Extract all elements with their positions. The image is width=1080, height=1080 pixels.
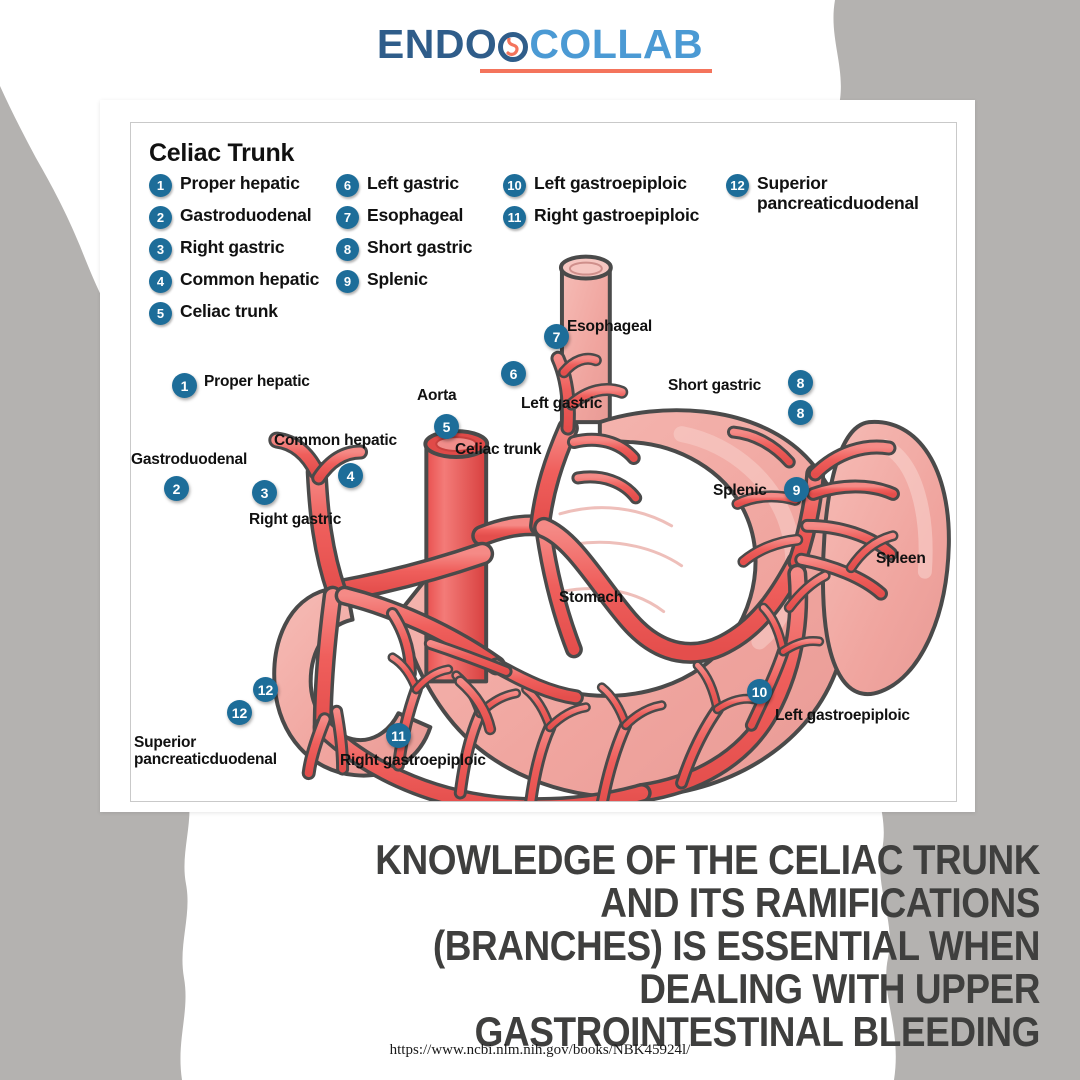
- diagram-badge-12a[interactable]: 12: [253, 677, 278, 702]
- diagram-badge-8b[interactable]: 8: [788, 400, 813, 425]
- legend-item[interactable]: 5 Celiac trunk: [149, 301, 319, 325]
- legend-label: Splenic: [367, 269, 428, 289]
- legend-item[interactable]: 6 Left gastric: [336, 173, 472, 197]
- brand-logo: ENDO COLLAB: [0, 22, 1080, 66]
- legend-badge: 6: [336, 174, 359, 197]
- legend-badge: 11: [503, 206, 526, 229]
- legend-label: Left gastric: [367, 173, 459, 193]
- diagram-badge-6[interactable]: 6: [501, 361, 526, 386]
- label-superior-pancreaticduodenal: Superior pancreaticduodenal: [134, 734, 277, 768]
- stomach-glyph: [505, 38, 521, 56]
- legend-badge: 3: [149, 238, 172, 261]
- legend-badge: 5: [149, 302, 172, 325]
- legend-label: Left gastroepiploic: [534, 173, 687, 193]
- headline-text: KNOWLEDGE OF THE CELIAC TRUNK AND ITS RA…: [371, 838, 1040, 1053]
- legend-badge: 12: [726, 174, 749, 197]
- diagram-badge-1[interactable]: 1: [172, 373, 197, 398]
- label-aorta: Aorta: [417, 387, 456, 404]
- label-right-gastric: Right gastric: [249, 511, 341, 528]
- legend-label: Superior pancreaticduodenal: [757, 173, 919, 213]
- legend-item[interactable]: 9 Splenic: [336, 269, 472, 293]
- label-left-gastric: Left gastric: [521, 395, 602, 412]
- legend-badge: 9: [336, 270, 359, 293]
- diagram-badge-2[interactable]: 2: [164, 476, 189, 501]
- label-celiac-trunk: Celiac trunk: [455, 441, 541, 458]
- legend-label: Common hepatic: [180, 269, 319, 289]
- legend-item[interactable]: 3 Right gastric: [149, 237, 319, 261]
- legend-badge: 8: [336, 238, 359, 261]
- label-short-gastric: Short gastric: [668, 377, 761, 394]
- diagram-badge-7[interactable]: 7: [544, 324, 569, 349]
- legend-label: Celiac trunk: [180, 301, 278, 321]
- label-right-gastroepiploic: Right gastroepiploic: [340, 752, 486, 769]
- diagram-badge-12b[interactable]: 12: [227, 700, 252, 725]
- diagram-badge-4[interactable]: 4: [338, 463, 363, 488]
- diagram-badge-8a[interactable]: 8: [788, 370, 813, 395]
- legend-column-1: 1 Proper hepatic 2 Gastroduodenal 3 Righ…: [149, 173, 319, 333]
- legend-badge: 7: [336, 206, 359, 229]
- diagram-badge-10[interactable]: 10: [747, 679, 772, 704]
- legend-item[interactable]: 1 Proper hepatic: [149, 173, 319, 197]
- legend-badge: 10: [503, 174, 526, 197]
- legend-label: Gastroduodenal: [180, 205, 311, 225]
- stomach-icon: [498, 32, 528, 62]
- legend-title: Celiac Trunk: [149, 139, 294, 168]
- label-left-gastroepiploic: Left gastroepiploic: [775, 707, 910, 724]
- legend-label: Right gastric: [180, 237, 284, 257]
- legend-badge: 2: [149, 206, 172, 229]
- legend-item[interactable]: 11 Right gastroepiploic: [503, 205, 699, 229]
- legend-column-3: 10 Left gastroepiploic 11 Right gastroep…: [503, 173, 699, 237]
- legend-column-2: 6 Left gastric 7 Esophageal 8 Short gast…: [336, 173, 472, 301]
- legend-badge: 4: [149, 270, 172, 293]
- legend-item[interactable]: 2 Gastroduodenal: [149, 205, 319, 229]
- legend-item[interactable]: 4 Common hepatic: [149, 269, 319, 293]
- logo-collab-text: COLLAB: [529, 21, 703, 67]
- legend-item[interactable]: 10 Left gastroepiploic: [503, 173, 699, 197]
- legend-item[interactable]: 12 Superior pancreaticduodenal: [726, 173, 919, 213]
- diagram-badge-9[interactable]: 9: [784, 477, 809, 502]
- label-splenic: Splenic: [713, 482, 767, 499]
- legend-column-4: 12 Superior pancreaticduodenal: [726, 173, 919, 221]
- logo-endo-text: ENDO: [377, 21, 497, 67]
- label-spleen: Spleen: [876, 550, 926, 567]
- legend-label: Proper hepatic: [180, 173, 300, 193]
- label-stomach: Stomach: [559, 589, 623, 606]
- logo-underline: [480, 69, 712, 73]
- label-common-hepatic: Common hepatic: [274, 432, 397, 449]
- legend-label: Short gastric: [367, 237, 472, 257]
- legend-item[interactable]: 8 Short gastric: [336, 237, 472, 261]
- label-gastroduodenal: Gastroduodenal: [131, 451, 247, 468]
- legend-label: Right gastroepiploic: [534, 205, 699, 225]
- label-esophageal: Esophageal: [567, 318, 652, 335]
- label-proper-hepatic: Proper hepatic: [204, 373, 310, 390]
- diagram-badge-5[interactable]: 5: [434, 414, 459, 439]
- diagram-badge-3[interactable]: 3: [252, 480, 277, 505]
- diagram-frame: ©2020 STATPEARLS PUBLISHING ©2020 STATPE…: [130, 122, 957, 802]
- diagram-badge-11[interactable]: 11: [386, 723, 411, 748]
- source-url: https://www.ncbi.nlm.nih.gov/books/NBK45…: [0, 1042, 1080, 1059]
- legend-label: Esophageal: [367, 205, 463, 225]
- legend-badge: 1: [149, 174, 172, 197]
- legend-item[interactable]: 7 Esophageal: [336, 205, 472, 229]
